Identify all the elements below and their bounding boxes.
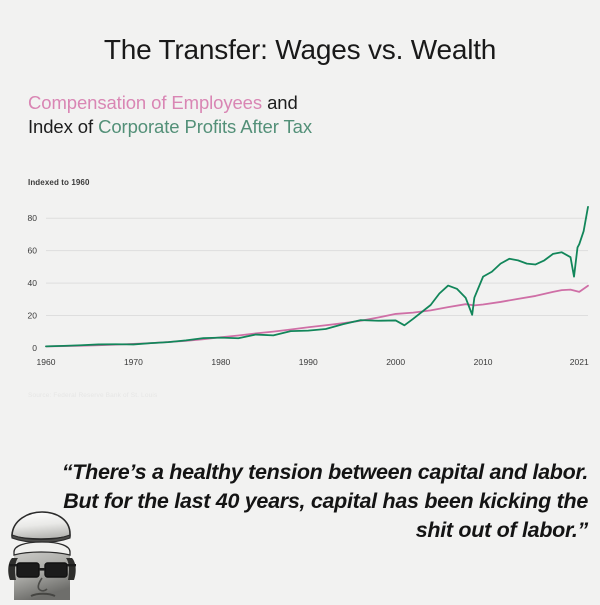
- chart-container: Indexed to 1960 020406080 19601970198019…: [0, 178, 600, 413]
- subtitle-conjunction: and: [262, 92, 298, 113]
- x-axis-tick-label: 2021: [570, 357, 589, 367]
- y-axis-tick-label: 80: [28, 213, 38, 223]
- chart-source-note: Source: Federal Reserve Bank of St. Loui…: [28, 392, 157, 399]
- man-with-open-head-icon: [4, 508, 82, 600]
- x-axis-tick-label: 2010: [474, 357, 493, 367]
- x-axis-tick-label: 1980: [211, 357, 230, 367]
- legend-label-compensation: Compensation of Employees: [28, 92, 262, 113]
- y-axis-tick-label: 20: [28, 311, 38, 321]
- line-chart-svg: 020406080 1960197019801990200020102021: [0, 196, 600, 374]
- lifted-skull-cap: [12, 512, 70, 543]
- pull-quote: “There’s a healthy tension between capit…: [36, 458, 588, 545]
- x-axis-tick-label: 1960: [37, 357, 56, 367]
- x-axis-tick-label: 1990: [299, 357, 318, 367]
- y-axis-tick-label: 0: [32, 343, 37, 353]
- legend-label-corporate-profits: Corporate Profits After Tax: [98, 116, 312, 137]
- face: [8, 542, 76, 600]
- y-axis-ticks: 020406080: [28, 213, 38, 353]
- plot-area: 020406080 1960197019801990200020102021: [0, 196, 600, 374]
- x-axis-ticks: 1960197019801990200020102021: [37, 357, 589, 367]
- subtitle-line-1: Compensation of Employees and: [28, 91, 600, 116]
- x-axis-tick-label: 2000: [386, 357, 405, 367]
- avatar: [4, 508, 82, 600]
- chart-subtitle: Compensation of Employees and Index of C…: [28, 91, 600, 141]
- subtitle-line-2: Index of Corporate Profits After Tax: [28, 115, 600, 140]
- y-axis-tick-label: 40: [28, 278, 38, 288]
- page-title: The Transfer: Wages vs. Wealth: [0, 0, 600, 67]
- x-axis-tick-label: 1970: [124, 357, 143, 367]
- subtitle-index-prefix: Index of: [28, 116, 98, 137]
- chart-axis-note: Indexed to 1960: [28, 178, 90, 187]
- y-axis-tick-label: 60: [28, 246, 38, 256]
